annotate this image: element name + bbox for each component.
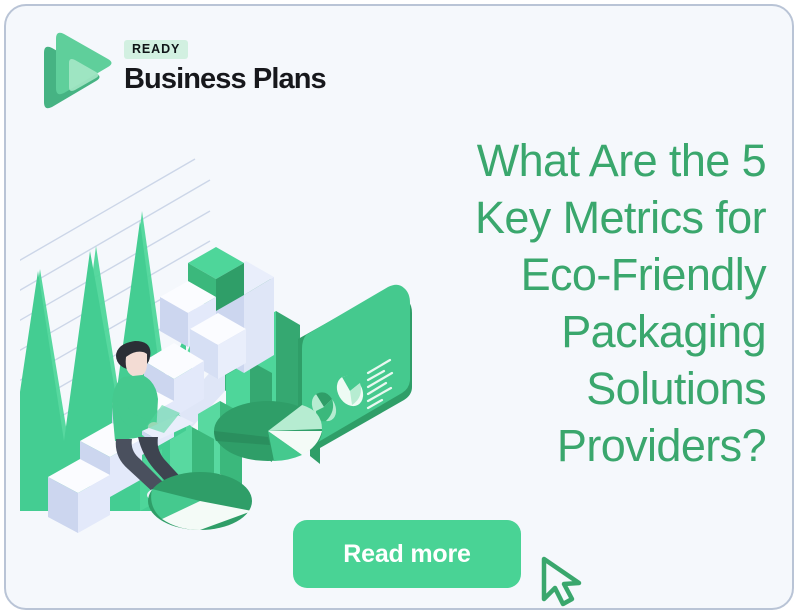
- logo-wordmark: READY Business Plans: [124, 40, 334, 94]
- headline-line-4: Packaging: [406, 303, 766, 360]
- isometric-business-analytics-illustration: [20, 111, 440, 541]
- pie-chart-small: [148, 472, 252, 530]
- headline-line-2: Key Metrics for: [406, 189, 766, 246]
- play-triangle-logo-icon: [34, 32, 116, 112]
- headline-line-1: What Are the 5: [406, 132, 766, 189]
- ready-badge: READY: [124, 40, 188, 59]
- headline-line-5: Solutions: [406, 360, 766, 417]
- headline-line-3: Eco-Friendly: [406, 246, 766, 303]
- pie-chart-large: [214, 401, 322, 461]
- brand-name: Business Plans: [124, 64, 334, 94]
- mouse-pointer-arrow-icon: [534, 551, 596, 610]
- page-title: What Are the 5 Key Metrics for Eco-Frien…: [406, 132, 766, 474]
- ad-banner-card: READY Business Plans: [4, 4, 794, 610]
- read-more-button[interactable]: Read more: [293, 520, 521, 588]
- headline-line-6: Providers?: [406, 417, 766, 474]
- brand-logo[interactable]: READY Business Plans: [34, 30, 324, 112]
